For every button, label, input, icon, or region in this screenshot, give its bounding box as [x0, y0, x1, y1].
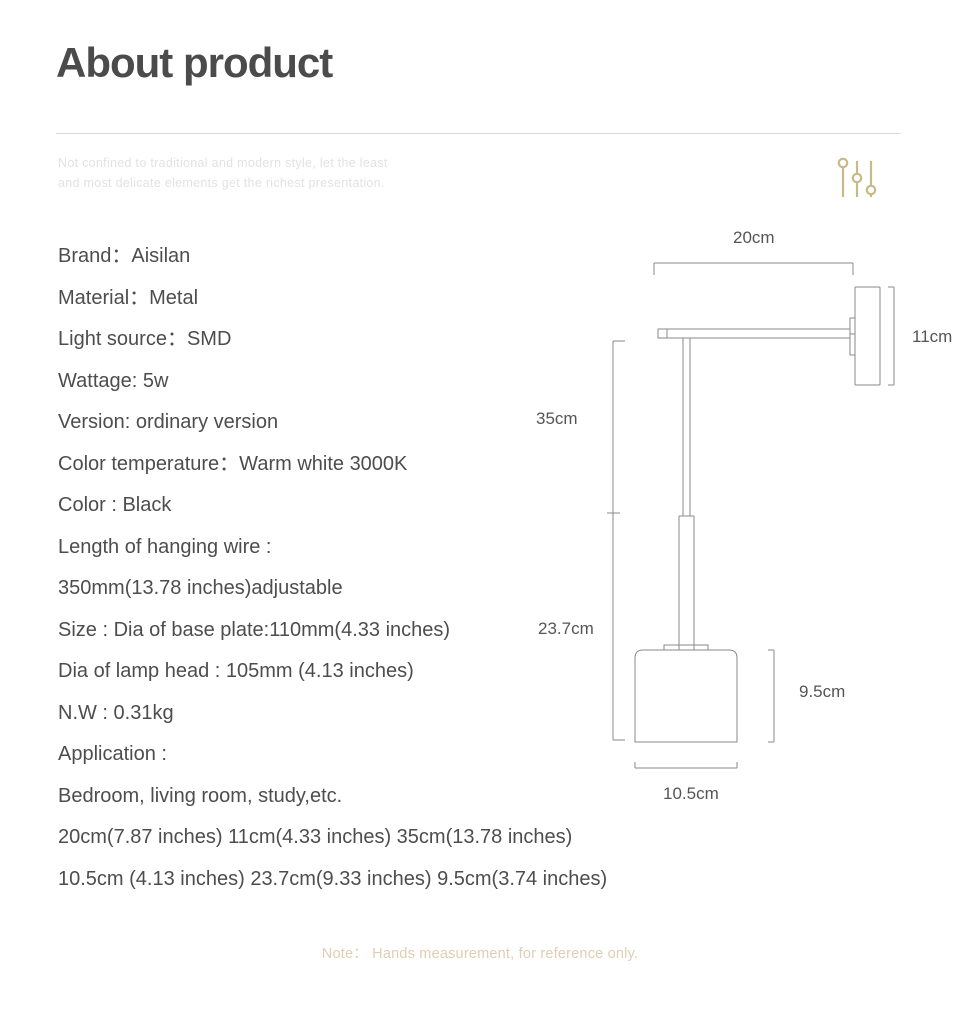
spec-line: 350mm(13.78 inches)adjustable: [58, 568, 658, 610]
spec-line: 10.5cm (4.13 inches) 23.7cm(9.33 inches)…: [58, 859, 658, 901]
reference-note: Note： Hands measurement, for reference o…: [0, 942, 960, 963]
dimension-bracket-width: [654, 263, 853, 275]
vertical-pole-lower: [679, 516, 694, 650]
spec-line: Size : Dia of base plate:110mm(4.33 inch…: [58, 610, 658, 652]
spec-line: Application :: [58, 734, 658, 776]
spec-line: Length of hanging wire :: [58, 527, 658, 569]
spec-line: Bedroom, living room, study,etc.: [58, 776, 658, 818]
spec-line: 20cm(7.87 inches) 11cm(4.33 inches) 35cm…: [58, 817, 658, 859]
spec-line: Wattage: 5w: [58, 361, 658, 403]
dimension-label-shade-height: 9.5cm: [799, 682, 845, 702]
specification-list: Brand：Aisilan Material：Metal Light sourc…: [58, 236, 658, 900]
spec-line: Color : Black: [58, 485, 658, 527]
spec-line: Version: ordinary version: [58, 402, 658, 444]
spec-line: Dia of lamp head : 105mm (4.13 inches): [58, 651, 658, 693]
spec-line: Brand：Aisilan: [58, 236, 658, 278]
dimension-label-width: 20cm: [733, 228, 775, 248]
sliders-icon: [836, 155, 882, 203]
header-divider: [56, 133, 901, 134]
vertical-pole-upper: [683, 338, 690, 516]
horizontal-arm: [658, 329, 855, 338]
wall-plate: [850, 287, 880, 385]
spec-line: N.W : 0.31kg: [58, 693, 658, 735]
sliders-icon-svg: [836, 155, 882, 203]
dimension-bracket-plate-height: [888, 287, 894, 385]
dimension-bracket-shade-height: [768, 650, 774, 742]
dimension-label-plate-height: 11cm: [912, 327, 952, 347]
spec-line: Color temperature：Warm white 3000K: [58, 444, 658, 486]
dimension-label-shade-diameter: 10.5cm: [663, 784, 719, 804]
spec-line: Material：Metal: [58, 278, 658, 320]
spec-line: Light source：SMD: [58, 319, 658, 361]
header-subtitle: Not confined to traditional and modern s…: [58, 153, 408, 193]
page-title: About product: [56, 40, 332, 86]
